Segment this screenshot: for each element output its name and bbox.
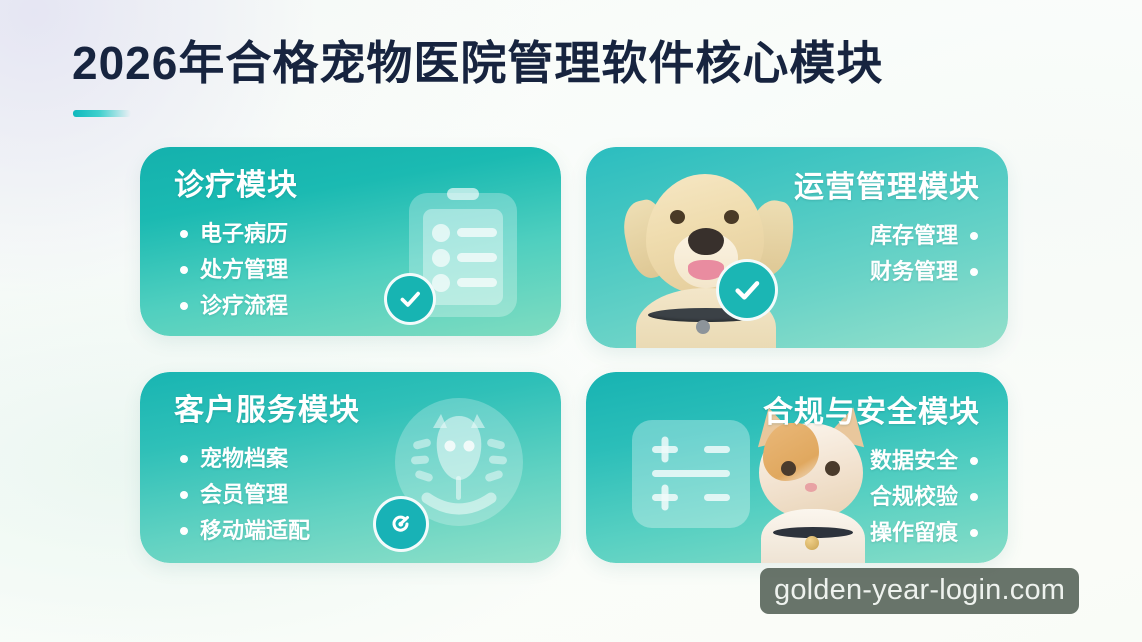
list-item: 合规校验 — [763, 479, 958, 515]
check-badge-icon — [384, 273, 436, 325]
card-bullet-list: 电子病历 处方管理 诊疗流程 — [174, 216, 298, 324]
list-item: 宠物档案 — [200, 441, 360, 477]
form-checklist-icon — [630, 418, 752, 530]
list-item: 库存管理 — [794, 218, 958, 254]
check-icon — [731, 274, 763, 306]
list-item: 电子病历 — [200, 216, 298, 252]
card-bullet-list: 数据安全 合规校验 操作留痕 — [763, 443, 980, 551]
dog-photo — [608, 148, 808, 348]
card-bullet-list: 库存管理 财务管理 — [794, 218, 980, 290]
spiral-icon — [387, 510, 415, 538]
module-card-compliance-security[interactable]: 合规与安全模块 数据安全 合规校验 操作留痕 — [586, 372, 1008, 563]
check-icon — [397, 286, 423, 312]
card-heading: 客户服务模块 — [174, 394, 360, 429]
list-item: 移动端适配 — [200, 513, 360, 549]
card-bullet-list: 宠物档案 会员管理 移动端适配 — [174, 441, 360, 549]
module-card-customer-service[interactable]: 客户服务模块 宠物档案 会员管理 移动端适配 — [140, 372, 561, 563]
card-heading: 运营管理模块 — [794, 171, 980, 206]
page-title: 2026年合格宠物医院管理软件核心模块 — [72, 38, 883, 89]
check-badge-icon — [716, 259, 778, 321]
module-card-diagnosis[interactable]: 诊疗模块 电子病历 处方管理 诊疗流程 — [140, 147, 561, 336]
infographic-canvas: 2026年合格宠物医院管理软件核心模块 — [0, 0, 1142, 642]
module-card-operations[interactable]: 运营管理模块 库存管理 财务管理 — [586, 147, 1008, 348]
watermark-url: golden-year-login.com — [760, 568, 1079, 614]
list-item: 处方管理 — [200, 252, 298, 288]
spiral-badge-icon — [373, 496, 429, 552]
list-item: 操作留痕 — [763, 515, 958, 551]
card-heading: 诊疗模块 — [174, 169, 298, 204]
list-item: 数据安全 — [763, 443, 958, 479]
title-underline-accent — [73, 110, 131, 117]
card-heading: 合规与安全模块 — [763, 396, 980, 431]
list-item: 财务管理 — [794, 254, 958, 290]
list-item: 诊疗流程 — [200, 288, 298, 324]
list-item: 会员管理 — [200, 477, 360, 513]
